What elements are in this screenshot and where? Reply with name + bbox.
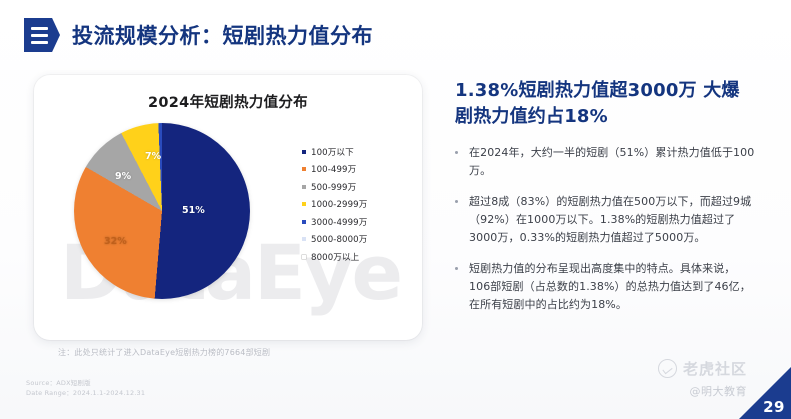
legend-label: 100-499万 — [311, 163, 356, 175]
insight-bullet: 短剧热力值的分布呈现出高度集中的特点。具体来说，106部短剧（占总数的1.38%… — [455, 260, 755, 314]
page-title: 投流规模分析：短剧热力值分布 — [72, 20, 373, 50]
chart-legend: 100万以下100-499万500-999万1000-2999万3000-499… — [302, 143, 418, 266]
tiger-logo-icon — [658, 359, 677, 378]
bullet-dot-icon — [455, 267, 458, 270]
pie-slice-label-1: 32% — [104, 236, 127, 247]
legend-item[interactable]: 500-999万 — [302, 178, 418, 196]
legend-swatch — [302, 150, 306, 154]
insight-bullet: 超过8成（83%）的短剧热力值在500万以下，而超过9城（92%）在1000万以… — [455, 193, 755, 247]
legend-label: 100万以下 — [311, 146, 354, 158]
source-block: Source：ADX短剧版 Date Range：2024.1.1-2024.1… — [26, 378, 145, 398]
legend-swatch — [302, 220, 306, 224]
legend-swatch — [302, 185, 306, 189]
insight-headline: 1.38%短剧热力值超3000万 大爆剧热力值约占18% — [455, 78, 755, 130]
slide-canvas: 投流规模分析：短剧热力值分布 2024年短剧热力值分布 DataEye 51% … — [0, 0, 791, 419]
chart-card: 2024年短剧热力值分布 DataEye 51% 32% 9% 7% 100万以… — [34, 75, 422, 340]
legend-label: 3000-4999万 — [311, 216, 367, 228]
legend-item[interactable]: 100-499万 — [302, 161, 418, 179]
insight-bullet-text: 短剧热力值的分布呈现出高度集中的特点。具体来说，106部短剧（占总数的1.38%… — [469, 260, 755, 314]
brand-handle: @明大教育 — [690, 383, 748, 399]
legend-label: 8000万以上 — [311, 251, 359, 263]
pie-slice-label-0: 51% — [182, 205, 205, 216]
legend-label: 5000-8000万 — [311, 233, 367, 245]
legend-item[interactable]: 100万以下 — [302, 143, 418, 161]
brand-name: 老虎社区 — [683, 358, 747, 379]
page-number: 29 — [763, 398, 785, 416]
source-line: Source：ADX短剧版 — [26, 378, 145, 388]
pie-slice-label-2: 9% — [115, 171, 131, 182]
slide-header: 投流规模分析：短剧热力值分布 — [24, 18, 373, 52]
chart-footnote: 注：此处只统计了进入DataEye短剧热力榜的7664部短剧 — [58, 347, 408, 358]
insight-bullet-list: 在2024年，大约一半的短剧（51%）累计热力值低于100万。超过8成（83%）… — [455, 144, 755, 314]
insight-bullet-text: 超过8成（83%）的短剧热力值在500万以下，而超过9城（92%）在1000万以… — [469, 193, 755, 247]
pie-slice-label-3: 7% — [145, 151, 161, 162]
brand-watermark: 老虎社区 — [658, 358, 747, 379]
insight-bullet: 在2024年，大约一半的短剧（51%）累计热力值低于100万。 — [455, 144, 755, 180]
legend-swatch — [302, 167, 306, 171]
pie-graphic — [74, 123, 250, 299]
chart-title: 2024年短剧热力值分布 — [34, 91, 422, 112]
legend-swatch — [302, 237, 306, 241]
legend-item[interactable]: 1000-2999万 — [302, 196, 418, 214]
insight-panel: 1.38%短剧热力值超3000万 大爆剧热力值约占18% 在2024年，大约一半… — [455, 78, 755, 327]
legend-item[interactable]: 8000万以上 — [302, 248, 418, 266]
legend-label: 1000-2999万 — [311, 198, 367, 210]
legend-swatch — [302, 255, 306, 259]
legend-swatch — [302, 202, 306, 206]
insight-bullet-text: 在2024年，大约一半的短剧（51%）累计热力值低于100万。 — [469, 144, 755, 180]
legend-item[interactable]: 5000-8000万 — [302, 231, 418, 249]
legend-item[interactable]: 3000-4999万 — [302, 213, 418, 231]
pie-chart: 51% 32% 9% 7% — [74, 123, 264, 299]
menu-bars-icon — [24, 18, 60, 52]
legend-label: 500-999万 — [311, 181, 356, 193]
bullet-dot-icon — [455, 151, 458, 154]
bullet-dot-icon — [455, 200, 458, 203]
date-range-line: Date Range：2024.1.1-2024.12.31 — [26, 388, 145, 398]
